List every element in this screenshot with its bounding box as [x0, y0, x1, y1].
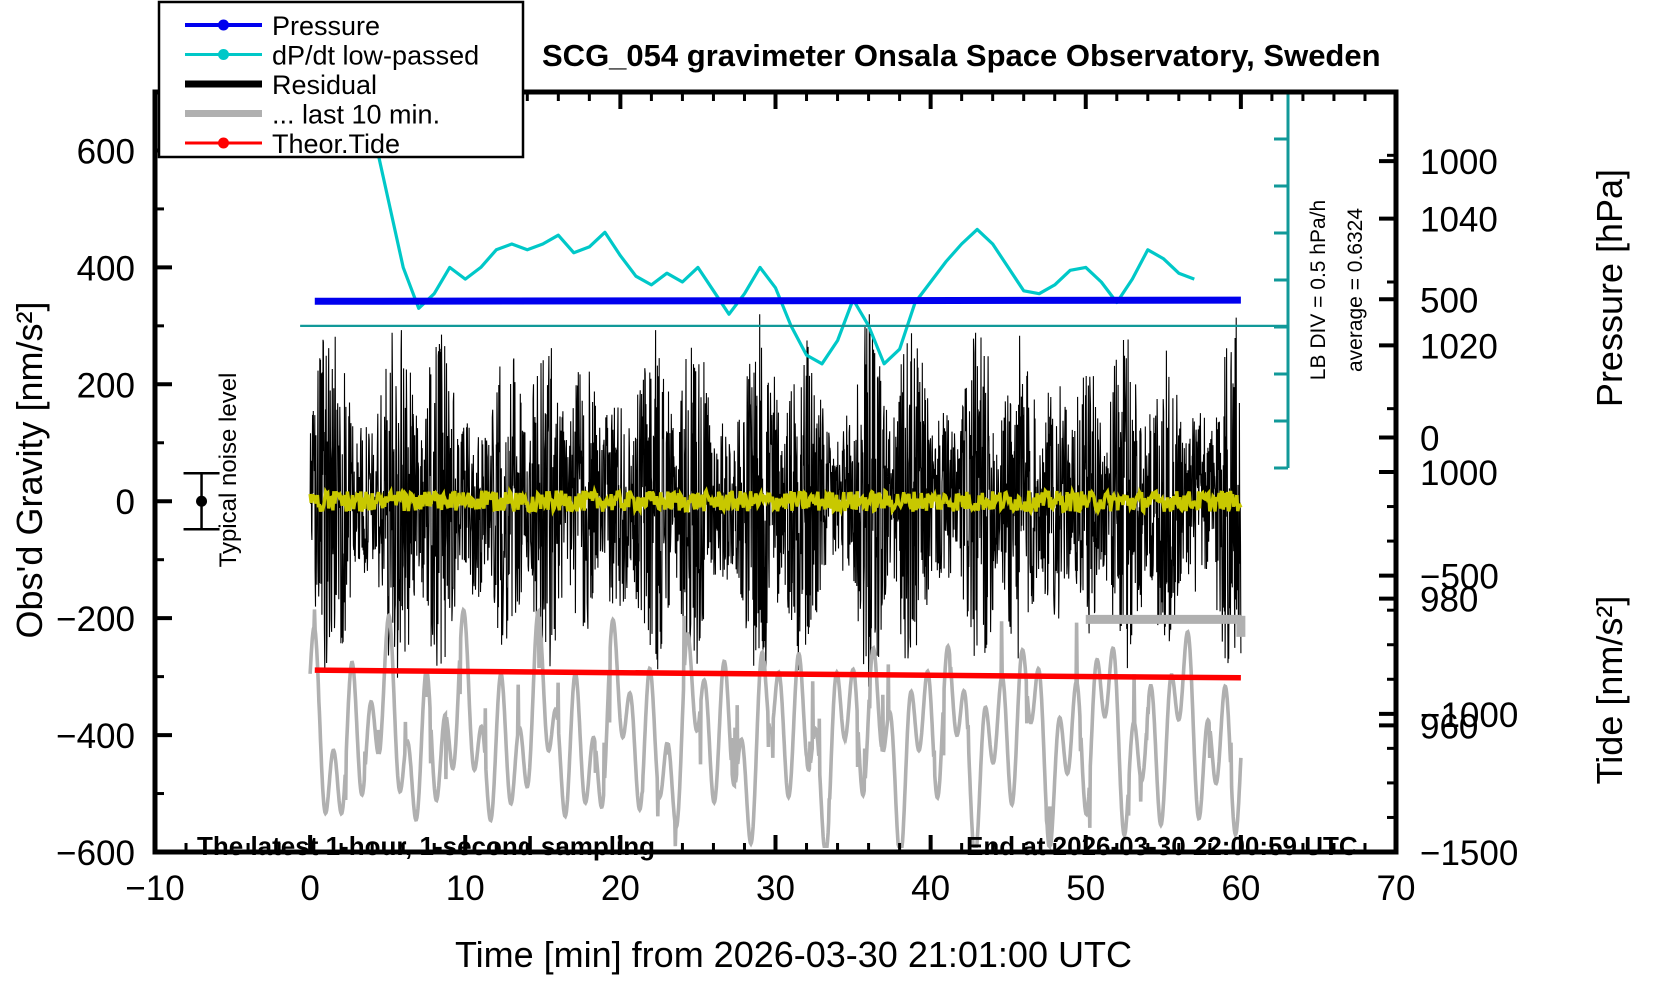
svg-text:20: 20 [601, 869, 640, 908]
svg-text:0: 0 [300, 869, 319, 908]
svg-text:40: 40 [911, 869, 950, 908]
annotation-typical-noise-level: Typical noise level [215, 373, 242, 568]
y-axis-title-pressure: Pressure [hPa] [1589, 169, 1630, 407]
footer-note-right: End at 2026-03-30 22:00:59 UTC [966, 831, 1358, 861]
svg-text:−400: −400 [56, 717, 135, 756]
gravimeter-plot: −10010203040506070−600−400−2000200400600… [0, 0, 1653, 987]
legend-marker-0 [218, 20, 229, 31]
svg-text:−1000: −1000 [1420, 696, 1518, 735]
svg-text:−500: −500 [1420, 558, 1499, 597]
svg-text:500: 500 [1420, 281, 1478, 320]
annotation-lb-div: LB DIV = 0.5 hPa/h [1307, 200, 1330, 380]
noise-errorbar-point [196, 496, 207, 507]
legend-label-4: Theor.Tide [272, 129, 400, 159]
svg-text:400: 400 [77, 249, 135, 288]
svg-text:30: 30 [756, 869, 795, 908]
svg-text:200: 200 [77, 366, 135, 405]
annotation-lb-average: average = 0.6324 [1344, 208, 1367, 372]
svg-text:−200: −200 [56, 600, 135, 639]
legend-label-2: Residual [272, 70, 377, 100]
x-axis-title: Time [min] from 2026-03-30 21:01:00 UTC [455, 934, 1132, 975]
svg-text:−1500: −1500 [1420, 834, 1518, 873]
y-axis-title-tide: Tide [nm/s²] [1589, 596, 1630, 785]
svg-text:1000: 1000 [1420, 143, 1498, 182]
svg-text:70: 70 [1377, 869, 1416, 908]
svg-text:60: 60 [1221, 869, 1260, 908]
legend-marker-4 [218, 138, 229, 149]
svg-text:1040: 1040 [1420, 201, 1498, 240]
svg-text:0: 0 [116, 483, 135, 522]
chart-title: SCG_054 gravimeter Onsala Space Observat… [542, 38, 1381, 73]
y-axis-title-left: Obs'd Gravity [nm/s²] [9, 302, 50, 639]
legend-label-1: dP/dt low-passed [272, 41, 479, 71]
legend-label-3: ... last 10 min. [272, 100, 440, 130]
svg-text:−10: −10 [125, 869, 184, 908]
legend-label-0: Pressure [272, 11, 380, 41]
svg-text:50: 50 [1066, 869, 1105, 908]
chart-canvas: −10010203040506070−600−400−2000200400600… [0, 0, 1653, 987]
svg-text:1020: 1020 [1420, 327, 1498, 366]
footer-note-left: The latest 1-hour, 1-second sampling [197, 831, 655, 861]
legend: PressuredP/dt low-passedResidual... last… [159, 2, 523, 159]
svg-text:600: 600 [77, 132, 135, 171]
series-pressure [315, 300, 1241, 301]
svg-text:−600: −600 [56, 834, 135, 873]
svg-text:0: 0 [1420, 419, 1439, 458]
svg-text:1000: 1000 [1420, 454, 1498, 493]
svg-text:10: 10 [446, 869, 485, 908]
legend-marker-1 [218, 49, 229, 60]
